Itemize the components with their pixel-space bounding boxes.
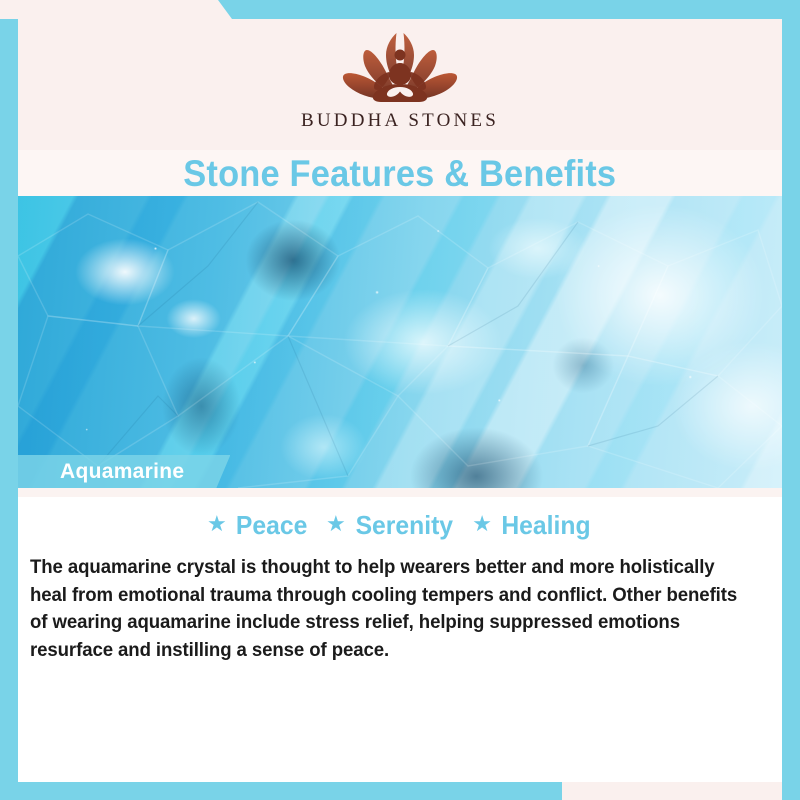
stone-name-badge: Aquamarine	[18, 455, 230, 488]
header-section: BUDDHA STONES Stone Features & Benefits	[18, 19, 782, 196]
content-section: ★ Peace ★ Serenity ★ Healing The aquamar…	[18, 488, 782, 782]
aquamarine-crystal-cluster-photo	[18, 196, 782, 488]
benefit-label: Serenity	[355, 512, 452, 538]
frame-left-accent-band	[0, 19, 18, 800]
benefits-list: ★ Peace ★ Serenity ★ Healing	[18, 512, 782, 538]
stone-description: The aquamarine crystal is thought to hel…	[30, 554, 742, 664]
benefit-item-healing: ★ Healing	[472, 512, 593, 538]
brand-name: BUDDHA STONES	[18, 111, 782, 130]
poster-canvas: BUDDHA STONES Stone Features & Benefits	[0, 0, 800, 800]
benefit-label: Peace	[236, 512, 307, 538]
benefit-label: Healing	[501, 512, 590, 538]
title-banner: Stone Features & Benefits	[18, 150, 782, 196]
lotus-meditation-icon	[325, 27, 475, 109]
page-title: Stone Features & Benefits	[184, 155, 617, 192]
star-icon: ★	[326, 513, 346, 535]
benefit-item-peace: ★ Peace	[207, 512, 309, 538]
benefit-item-serenity: ★ Serenity	[326, 512, 455, 538]
content-top-divider	[18, 488, 782, 497]
star-icon: ★	[207, 513, 227, 535]
brand-block: BUDDHA STONES	[18, 27, 782, 130]
frame-bottom-right-fill	[562, 782, 782, 800]
frame-right-accent-band	[782, 0, 800, 800]
frame-top-left-fill	[0, 0, 240, 19]
stone-name: Aquamarine	[60, 461, 184, 482]
star-icon: ★	[472, 513, 492, 535]
hero-image: Aquamarine	[18, 196, 782, 488]
